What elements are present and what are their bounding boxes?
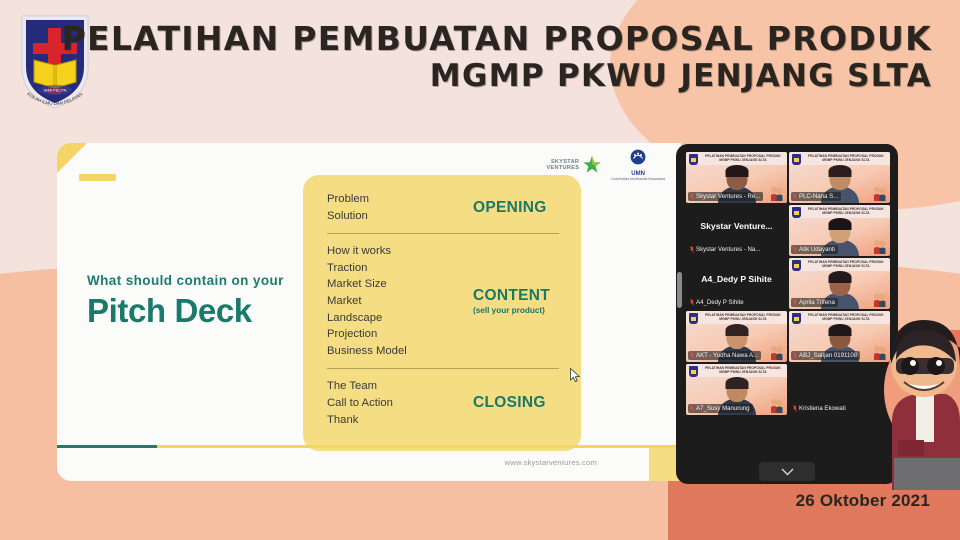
virtual-background-shield-icon [792,260,801,271]
microphone-muted-icon [793,246,797,253]
panel-item: Business Model [327,343,465,360]
microphone-muted-icon [793,352,797,359]
card-accent-dash [79,174,116,181]
title-main-line: PELATIHAN PEMBUATAN PROPOSAL PRODUK [62,22,932,56]
chevron-down-icon [781,468,794,476]
virtual-background-mascot-icon [873,238,886,254]
participant-name-badge: AKT - Yudha Nawa A... [688,351,761,360]
virtual-background-title: PELATIHAN PEMBUATAN PROPOSAL PRODUK MGMP… [804,154,888,162]
virtual-background-title: PELATIHAN PEMBUATAN PROPOSAL PRODUK MGMP… [701,154,785,162]
participant-tile[interactable]: PELATIHAN PEMBUATAN PROPOSAL PRODUK MGMP… [686,311,787,362]
participant-tile[interactable]: PELATIHAN PEMBUATAN PROPOSAL PRODUK MGMP… [686,152,787,203]
virtual-background-banner: PELATIHAN PEMBUATAN PROPOSAL PRODUK MGMP… [789,258,890,271]
virtual-background-mascot-icon [770,344,783,360]
virtual-background-shield-icon [689,366,698,377]
participant-name: Aprila Trifena [799,299,835,306]
virtual-background-banner: PELATIHAN PEMBUATAN PROPOSAL PRODUK MGMP… [789,205,890,218]
participant-name: PLC-Nana S... [799,193,838,200]
participant-tile[interactable]: PELATIHAN PEMBUATAN PROPOSAL PRODUK MGMP… [789,205,890,256]
participant-grid: PELATIHAN PEMBUATAN PROPOSAL PRODUK MGMP… [686,152,892,415]
microphone-muted-icon [793,405,797,412]
virtual-background-title: PELATIHAN PEMBUATAN PROPOSAL PRODUK MGMP… [701,366,785,374]
page-title: PELATIHAN PEMBUATAN PROPOSAL PRODUK MGMP… [62,22,932,93]
slide-heading: What should contain on your Pitch Deck [87,273,317,330]
pitch-deck-outline-panel: ProblemSolutionOPENINGHow it worksTracti… [303,175,581,451]
participant-name: AKT - Yudha Nawa A... [696,352,758,359]
show-more-participants-button[interactable] [759,462,815,481]
panel-section: The TeamCall to ActionThankCLOSING [327,378,561,428]
skystar-text: SKYSTAR VENTURES [546,159,579,172]
panel-section-label: CONTENT(sell your product) [465,243,561,359]
virtual-background-title: PELATIHAN PEMBUATAN PROPOSAL PRODUK MGMP… [804,207,888,215]
footer-rule [57,445,681,448]
participant-name-badge: A4_Dedy P Sihite [688,298,747,307]
microphone-muted-icon [690,193,694,200]
participant-name-badge: Kristiena Ekowati [791,404,849,413]
panel-item-list: How it worksTractionMarket SizeMarketLan… [327,243,465,359]
panel-section: How it worksTractionMarket SizeMarketLan… [327,243,561,359]
microphone-muted-icon [690,246,694,253]
participant-display-name-large: Skystar Venture... [694,221,778,241]
panel-section-label: CLOSING [465,378,561,428]
virtual-background-shield-icon [792,154,801,165]
panel-item: Thank [327,412,465,429]
skystar-line-2: VENTURES [546,165,579,171]
slide-footer-url: www.skystarventures.com [505,458,597,467]
microphone-muted-icon [793,193,797,200]
slide-footer: www.skystarventures.com [57,445,681,481]
panel-item: Market [327,293,465,310]
participant-tile[interactable]: Skystar Venture...Skystar Ventures - Na.… [686,205,787,256]
card-corner-fold [57,143,87,173]
footer-rule-teal [57,445,157,448]
participant-name-badge: ABJ_Satijan 0191108 [791,351,860,360]
virtual-background-banner: PELATIHAN PEMBUATAN PROPOSAL PRODUK MGMP… [686,152,787,165]
virtual-background-banner: PELATIHAN PEMBUATAN PROPOSAL PRODUK MGMP… [686,311,787,324]
panel-item: Traction [327,260,465,277]
panel-item: Call to Action [327,395,465,412]
slide-heading-big: Pitch Deck [87,292,317,330]
event-date: 26 Oktober 2021 [796,491,930,511]
footer-rule-yellow [157,445,681,448]
video-conference-panel[interactable]: PELATIHAN PEMBUATAN PROPOSAL PRODUK MGMP… [676,144,898,484]
microphone-muted-icon [793,299,797,306]
panel-section-label-text: OPENING [473,199,547,217]
participant-tile[interactable]: PELATIHAN PEMBUATAN PROPOSAL PRODUK MGMP… [789,152,890,203]
participant-name-badge: Skystar Ventures - Na... [688,245,763,254]
panel-item: The Team [327,378,465,395]
virtual-background-banner: PELATIHAN PEMBUATAN PROPOSAL PRODUK MGMP… [789,152,890,165]
virtual-background-shield-icon [689,313,698,324]
participant-name: Kristiena Ekowati [799,405,846,412]
participant-tile[interactable]: PELATIHAN PEMBUATAN PROPOSAL PRODUK MGMP… [789,311,890,362]
virtual-background-mascot-icon [873,185,886,201]
panel-section-label-note: (sell your product) [473,306,545,315]
panel-section-label: OPENING [465,191,561,224]
virtual-background-shield-icon [792,207,801,218]
panel-section-label-text: CLOSING [473,394,546,412]
virtual-background-shield-icon [689,154,698,165]
video-panel-scrollbar[interactable] [677,272,682,308]
skystar-ventures-logo: SKYSTAR VENTURES [546,155,602,175]
panel-item: Landscape [327,310,465,327]
participant-name: A7_Susy Manurung [696,405,750,412]
participant-name: ABJ_Satijan 0191108 [799,352,857,359]
virtual-background-mascot-icon [770,185,783,201]
panel-divider [327,368,559,369]
umn-mark-icon [630,149,646,165]
panel-item: Market Size [327,276,465,293]
mouse-cursor-icon [570,368,581,383]
participant-name-badge: Atik Udayanti [791,245,838,254]
panel-item-list: ProblemSolution [327,191,465,224]
virtual-background-title: PELATIHAN PEMBUATAN PROPOSAL PRODUK MGMP… [804,260,888,268]
participant-tile[interactable]: Kristiena Ekowati [789,364,890,415]
panel-section-label-text: CONTENT [473,287,550,305]
panel-section: ProblemSolutionOPENING [327,191,561,224]
participant-tile[interactable]: PELATIHAN PEMBUATAN PROPOSAL PRODUK MGMP… [686,364,787,415]
virtual-background-banner: PELATIHAN PEMBUATAN PROPOSAL PRODUK MGMP… [686,364,787,377]
panel-item: How it works [327,243,465,260]
participant-name: Skystar Ventures - Re... [696,193,760,200]
participant-name-badge: A7_Susy Manurung [688,404,753,413]
mascot-illustration [876,272,960,490]
participant-name-badge: Aprila Trifena [791,298,838,307]
umn-subtitle: Universitas Multimedia Nusantara [611,177,665,181]
slide-heading-small: What should contain on your [87,273,317,288]
participant-tile[interactable]: A4_Dedy P SihiteA4_Dedy P Sihite [686,258,787,309]
virtual-background-mascot-icon [770,397,783,413]
microphone-muted-icon [690,299,694,306]
panel-item: Projection [327,326,465,343]
participant-tile[interactable]: PELATIHAN PEMBUATAN PROPOSAL PRODUK MGMP… [789,258,890,309]
microphone-muted-icon [690,352,694,359]
header: SMA PELITA SEKOLAH ILMU DAN PELAYANAN PE… [0,0,960,122]
virtual-background-shield-icon [792,313,801,324]
participant-name: Atik Udayanti [799,246,835,253]
virtual-background-title: PELATIHAN PEMBUATAN PROPOSAL PRODUK MGMP… [701,313,785,321]
participant-name-badge: PLC-Nana S... [791,192,841,201]
participant-name: A4_Dedy P Sihite [696,299,744,306]
panel-item-list: The TeamCall to ActionThank [327,378,465,428]
participant-name-badge: Skystar Ventures - Re... [688,192,763,201]
participant-name: Skystar Ventures - Na... [696,246,760,253]
umn-logo: UMN Universitas Multimedia Nusantara [611,149,665,181]
microphone-muted-icon [690,405,694,412]
panel-item: Problem [327,191,465,208]
title-sub-line: MGMP PKWU JENJANG SLTA [62,60,932,92]
star-icon [582,155,602,175]
presentation-slide: SKYSTAR VENTURES UMN Universitas Multime… [57,143,681,481]
virtual-background-banner: PELATIHAN PEMBUATAN PROPOSAL PRODUK MGMP… [789,311,890,324]
panel-item: Solution [327,208,465,225]
participant-display-name-large: A4_Dedy P Sihite [695,274,778,294]
panel-divider [327,233,559,234]
